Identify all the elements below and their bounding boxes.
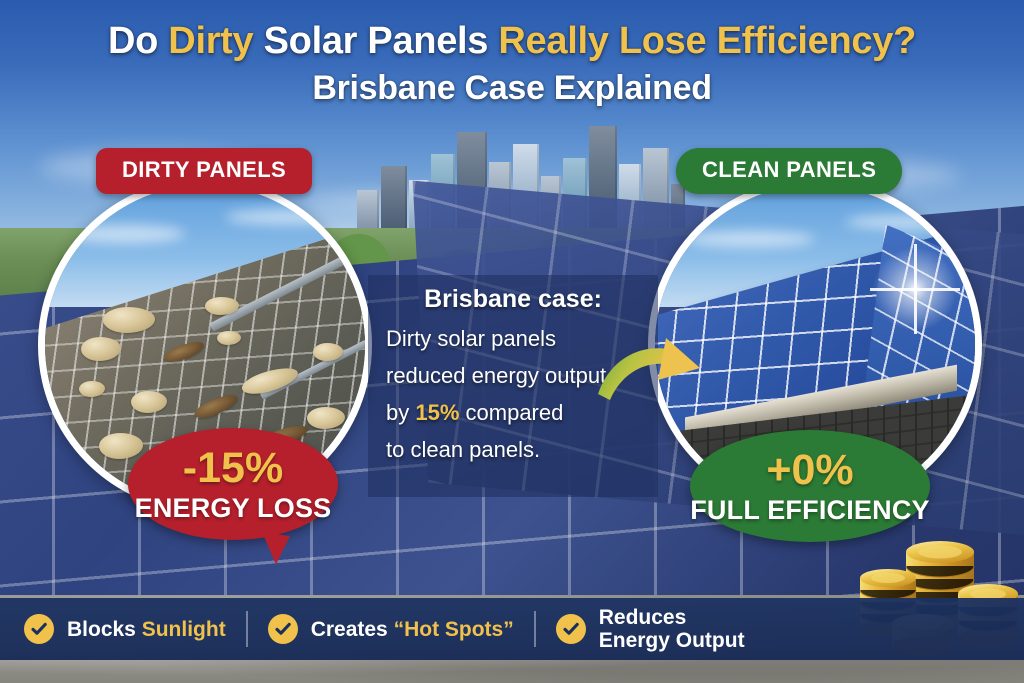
case-line-4: to clean panels. — [386, 431, 646, 468]
energy-loss-badge: -15% ENERGY LOSS — [128, 428, 338, 540]
footer-feature-bar: Blocks Sunlight Creates “Hot Spots” Redu… — [0, 598, 1024, 660]
full-efficiency-badge: +0% FULL EFFICIENCY — [690, 430, 930, 542]
energy-loss-caption: ENERGY LOSS — [128, 492, 338, 524]
footer-divider — [534, 611, 536, 647]
footer-feature-hot-spots: Creates “Hot Spots” — [268, 614, 514, 644]
case-panel-body: Dirty solar panels reduced energy output… — [380, 320, 646, 468]
footer-feature-reduces-output: Reduces Energy Output — [556, 606, 745, 652]
check-circle-icon — [268, 614, 298, 644]
full-efficiency-caption: FULL EFFICIENCY — [690, 494, 930, 526]
case-line-1: Dirty solar panels — [386, 320, 646, 357]
footer-divider — [246, 611, 248, 647]
headline-text-2: Solar Panels — [253, 20, 498, 62]
case-line-3-percent: 15% — [415, 400, 459, 425]
case-line-3-post: compared — [459, 400, 563, 425]
headline-text-1: Do — [108, 20, 168, 62]
headline-line-2: Brisbane Case Explained — [0, 66, 1024, 110]
footer-feature-gold: “Hot Spots” — [394, 618, 514, 641]
headline-gold-1: Dirty — [168, 20, 253, 62]
badge-clean-panels: CLEAN PANELS — [676, 148, 902, 194]
footer-feature-label: Creates “Hot Spots” — [311, 618, 514, 641]
case-line-3-pre: by — [386, 400, 415, 425]
footer-feature-label: Blocks Sunlight — [67, 618, 226, 641]
check-circle-icon — [24, 614, 54, 644]
footer-feature-gold: Sunlight — [142, 618, 226, 641]
headline: Do Dirty Solar Panels Really Lose Effici… — [0, 18, 1024, 110]
full-efficiency-percent: +0% — [690, 446, 930, 494]
check-circle-icon — [556, 614, 586, 644]
brisbane-case-panel: Brisbane case: Dirty solar panels reduce… — [368, 275, 658, 497]
case-panel-title: Brisbane case: — [380, 285, 646, 314]
footer-feature-label: Reduces Energy Output — [599, 606, 745, 652]
energy-loss-percent: -15% — [128, 444, 338, 492]
speech-bubble-tail — [258, 532, 290, 566]
headline-line-1: Do Dirty Solar Panels Really Lose Effici… — [0, 18, 1024, 64]
infographic-canvas: Do Dirty Solar Panels Really Lose Effici… — [0, 0, 1024, 683]
case-line-2: reduced energy output — [386, 357, 646, 394]
footer-feature-pre: Blocks — [67, 618, 142, 641]
sparkle-icon — [867, 241, 963, 337]
footer-feature-blocks-sunlight: Blocks Sunlight — [24, 614, 226, 644]
headline-gold-2: Really Lose Efficiency? — [498, 20, 916, 62]
case-line-3: by 15% compared — [386, 394, 646, 431]
badge-dirty-panels: DIRTY PANELS — [96, 148, 312, 194]
footer-feature-pre: Creates — [311, 618, 394, 641]
